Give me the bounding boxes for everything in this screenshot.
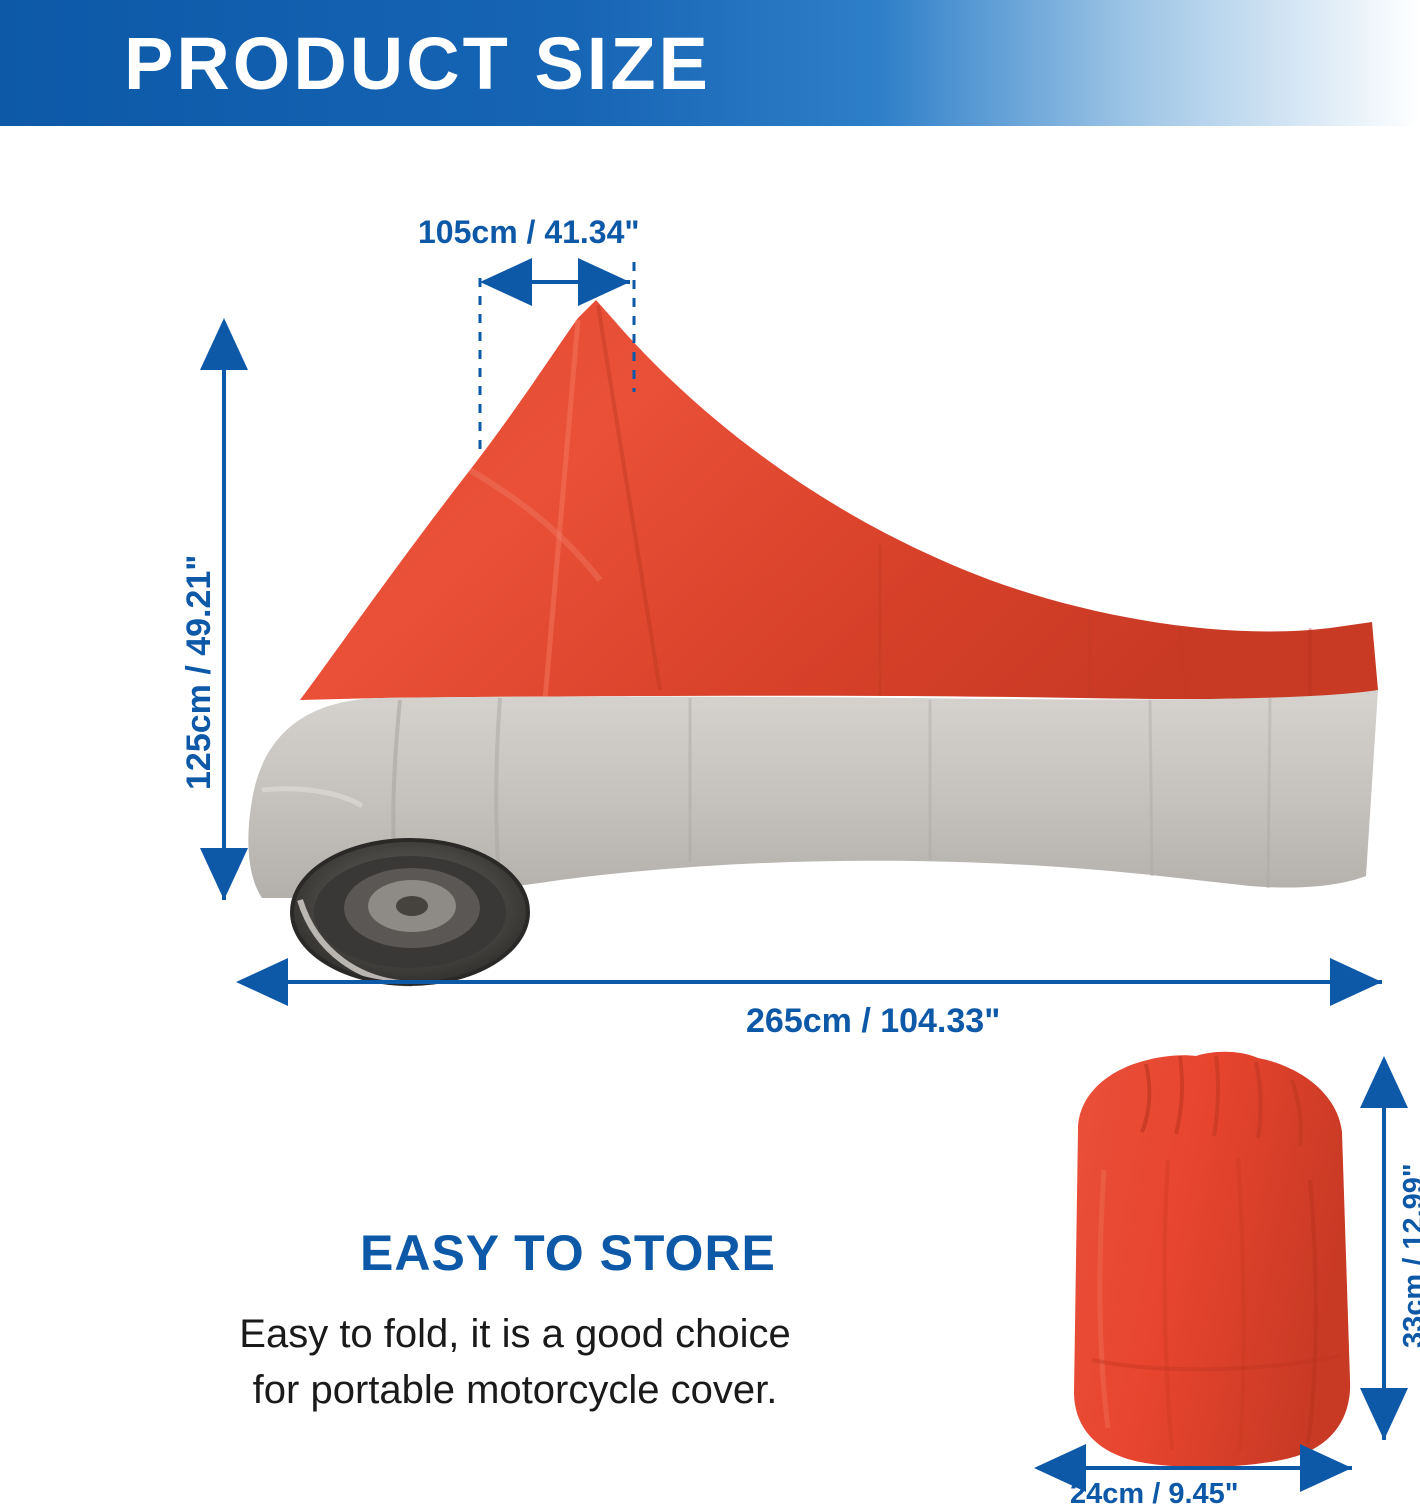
dim-label-height: 125cm / 49.21" <box>180 555 219 790</box>
dim-label-bag-width: 24cm / 9.45" <box>1070 1478 1239 1511</box>
dim-label-top-width: 105cm / 41.34" <box>418 214 640 251</box>
storage-bag-illustration <box>1074 1052 1350 1467</box>
easy-to-store-description: Easy to fold, it is a good choice for po… <box>120 1306 910 1418</box>
dim-label-bag-height: 33cm / 12.99" <box>1398 1163 1420 1348</box>
easy-to-store-line2: for portable motorcycle cover. <box>120 1362 910 1418</box>
motorcycle-cover-illustration <box>248 300 1378 984</box>
easy-to-store-line1: Easy to fold, it is a good choice <box>120 1306 910 1362</box>
dim-label-length: 265cm / 104.33" <box>746 1002 1000 1041</box>
page-title: PRODUCT SIZE <box>124 18 711 110</box>
easy-to-store-title: EASY TO STORE <box>360 1224 776 1282</box>
